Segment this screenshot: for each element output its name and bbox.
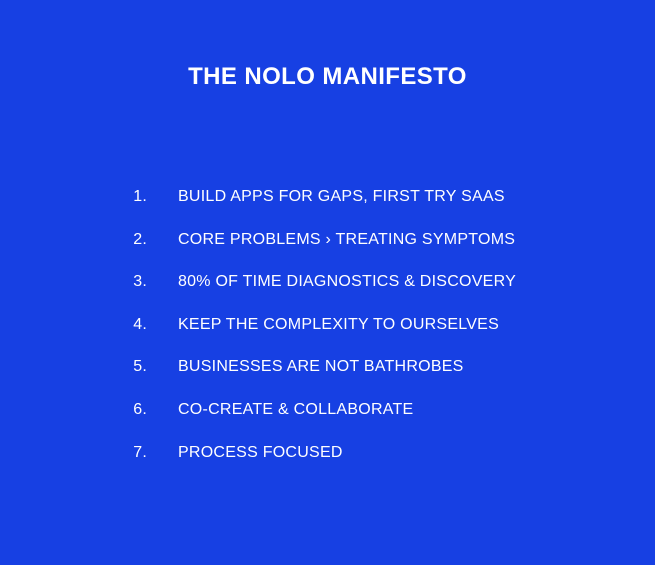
list-item: 4. KEEP THE COMPLEXITY TO OURSELVES bbox=[0, 314, 655, 357]
list-item-number: 3. bbox=[0, 271, 147, 293]
page-title: THE NOLO MANIFESTO bbox=[0, 62, 655, 92]
list-item-number: 1. bbox=[0, 186, 147, 208]
list-item: 2. CORE PROBLEMS › TREATING SYMPTOMS bbox=[0, 229, 655, 272]
list-item-text: BUILD APPS FOR GAPS, FIRST TRY SAAS bbox=[178, 186, 505, 208]
list-item-number: 5. bbox=[0, 356, 147, 378]
manifesto-list: 1. BUILD APPS FOR GAPS, FIRST TRY SAAS 2… bbox=[0, 186, 655, 484]
list-item-text: CO-CREATE & COLLABORATE bbox=[178, 399, 413, 421]
list-item-number: 6. bbox=[0, 399, 147, 421]
list-item: 5. BUSINESSES ARE NOT BATHROBES bbox=[0, 356, 655, 399]
list-item: 3. 80% OF TIME DIAGNOSTICS & DISCOVERY bbox=[0, 271, 655, 314]
list-item: 6. CO-CREATE & COLLABORATE bbox=[0, 399, 655, 442]
list-item: 7. PROCESS FOCUSED bbox=[0, 442, 655, 485]
list-item-text: BUSINESSES ARE NOT BATHROBES bbox=[178, 356, 464, 378]
list-item-number: 4. bbox=[0, 314, 147, 336]
list-item-text: PROCESS FOCUSED bbox=[178, 442, 343, 464]
list-item: 1. BUILD APPS FOR GAPS, FIRST TRY SAAS bbox=[0, 186, 655, 229]
list-item-text: KEEP THE COMPLEXITY TO OURSELVES bbox=[178, 314, 499, 336]
list-item-text: 80% OF TIME DIAGNOSTICS & DISCOVERY bbox=[178, 271, 516, 293]
list-item-number: 2. bbox=[0, 229, 147, 251]
list-item-number: 7. bbox=[0, 442, 147, 464]
manifesto-slide: THE NOLO MANIFESTO 1. BUILD APPS FOR GAP… bbox=[0, 0, 655, 565]
list-item-text: CORE PROBLEMS › TREATING SYMPTOMS bbox=[178, 229, 515, 251]
